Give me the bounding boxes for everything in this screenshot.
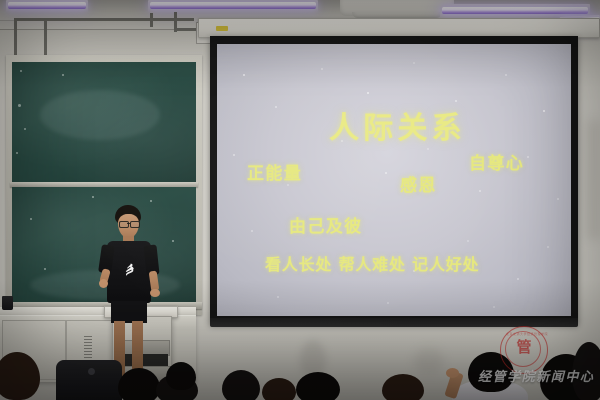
screen-speck	[543, 110, 545, 112]
cabinet-vent	[84, 336, 92, 362]
presenter-right-hand	[150, 289, 160, 297]
projection-screen-surface[interactable]: 人际关系 正能量 感恩 自尊心 由己及彼 看人长处 帮人难处 记人好处	[217, 44, 571, 316]
screen-speck	[387, 302, 389, 304]
chalk-mark	[150, 200, 152, 202]
wall-conduit	[150, 13, 153, 27]
audience-head	[382, 374, 424, 400]
screen-speck	[547, 246, 549, 248]
wall-conduit	[44, 18, 47, 56]
screen-speck	[251, 230, 253, 232]
seal-glyph: 管	[501, 340, 547, 355]
fluorescent-tube	[442, 7, 588, 14]
screen-speck	[287, 184, 289, 186]
screen-speck	[493, 306, 495, 308]
audience-head	[296, 372, 340, 400]
presenter	[98, 205, 168, 380]
slide-keyword-2: 自尊心	[469, 156, 524, 173]
audience-head	[222, 370, 260, 400]
screen-speck	[385, 172, 387, 174]
eyeglasses-right-lens	[130, 221, 140, 228]
audience-head	[166, 362, 196, 390]
chalk-mark	[20, 70, 22, 72]
screen-speck	[243, 74, 245, 76]
screen-speck	[527, 156, 529, 158]
screen-speck	[321, 68, 323, 70]
jordan-jumpman-logo	[124, 263, 135, 278]
backpack-logo	[88, 368, 95, 375]
screen-speck	[413, 62, 415, 64]
seal-arc-text: 北京交通大学经济管理学院	[506, 332, 548, 336]
screen-speck	[427, 148, 429, 150]
wall-conduit	[14, 18, 17, 58]
slide-keyword-1: 感恩	[400, 178, 437, 195]
chalk-mark	[18, 104, 21, 107]
cup[interactable]	[2, 296, 13, 310]
audience-backpack	[56, 360, 122, 400]
wall-conduit	[14, 18, 194, 21]
audience-hand	[446, 368, 459, 378]
chalk-mark	[92, 196, 94, 198]
watermark-org-text: 经管学院新闻中心	[478, 366, 594, 385]
fluorescent-tube	[150, 2, 316, 9]
projector-screen-housing[interactable]	[198, 18, 600, 38]
screen-speck	[479, 190, 481, 192]
presenter-shorts	[111, 301, 147, 323]
screen-speck	[233, 154, 235, 156]
chalk-mark	[30, 218, 32, 220]
chalk-mark	[172, 240, 174, 242]
screen-speck	[505, 74, 507, 76]
slide-title: 人际关系	[329, 114, 466, 144]
screen-speck	[467, 240, 469, 242]
classroom-photo: 人际关系 正能量 感恩 自尊心 由己及彼 看人长处 帮人难处 记人好处	[0, 0, 600, 400]
chalk-mark	[44, 268, 46, 270]
chalk-smudge	[40, 90, 160, 140]
eyeglasses-bridge	[127, 223, 130, 224]
slide-bottom-row: 看人长处 帮人难处 记人好处	[265, 257, 479, 273]
screen-speck	[557, 198, 559, 200]
fluorescent-tube	[8, 2, 86, 9]
chalk-mark	[24, 128, 26, 130]
slide-keyword-0: 正能量	[247, 166, 302, 183]
screen-speck	[367, 92, 369, 94]
audience-head	[262, 378, 296, 400]
slide-keyword-3: 由己及彼	[289, 219, 362, 236]
screen-speck	[455, 100, 457, 102]
screen-speck	[277, 296, 279, 298]
screen-housing-label	[216, 26, 228, 31]
chalk-mark	[62, 74, 64, 76]
screen-speck	[275, 106, 277, 108]
audience-head	[118, 368, 160, 400]
chalk-mark	[16, 152, 18, 154]
presenter-left-hand	[99, 279, 108, 288]
screen-speck	[517, 278, 519, 280]
